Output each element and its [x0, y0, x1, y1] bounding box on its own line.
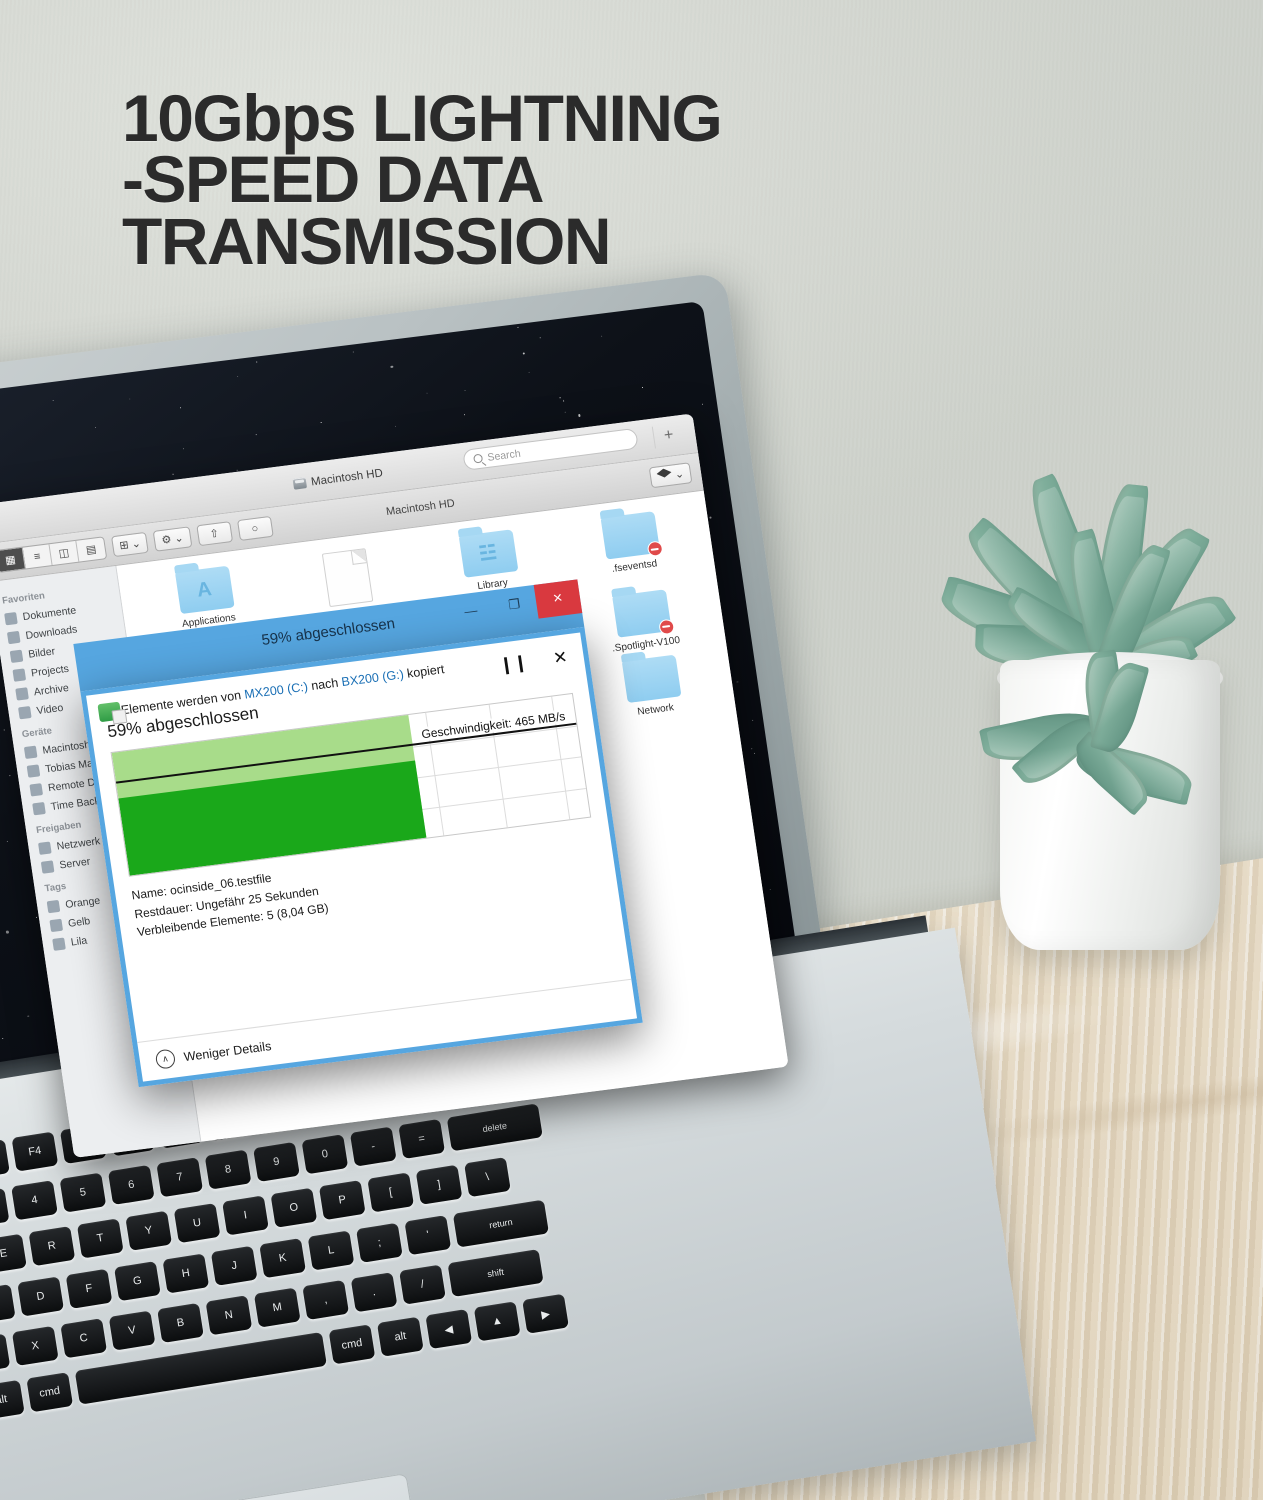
copy-suffix: kopiert	[403, 662, 446, 681]
folder-icon: A	[174, 566, 234, 614]
file-item-spotlight-v100[interactable]: .Spotlight-V100	[569, 583, 715, 659]
arrange-icon: ⊞	[119, 538, 130, 552]
arrange-button[interactable]: ⊞ ⌄	[111, 532, 149, 557]
folder-icon: ☳	[458, 529, 518, 577]
chevron-down-icon-3: ⌄	[674, 467, 685, 481]
sidebar-item-label: Bilder	[27, 645, 55, 660]
list-view-icon[interactable]: ≡	[23, 544, 53, 568]
headline-line-1: 10Gbps LIGHTNING	[122, 88, 1022, 149]
dialog-action-buttons[interactable]: ❙❙ ✕	[498, 646, 569, 674]
key-r[interactable]: R	[28, 1226, 75, 1266]
sidebar-item-label: Projects	[30, 662, 69, 679]
file-item-label: Network	[586, 696, 726, 725]
no-access-badge-icon	[646, 540, 663, 557]
file-item-network[interactable]: Network	[579, 649, 727, 736]
key-k[interactable]: K	[259, 1238, 306, 1278]
icon-view-icon[interactable]: ▦	[0, 548, 26, 572]
sidebar-item-icon	[41, 860, 55, 873]
detail-name-label: Name:	[131, 884, 168, 902]
pause-button[interactable]: ❙❙	[498, 653, 529, 673]
sidebar-item-icon	[47, 899, 61, 912]
share-icon: ⇧	[209, 527, 220, 541]
key-z[interactable]: Z	[0, 1334, 10, 1374]
dropbox-icon	[656, 468, 673, 485]
sidebar-item-label: Server	[59, 855, 91, 871]
key-g[interactable]: G	[114, 1261, 161, 1301]
close-button[interactable]: ×	[534, 579, 583, 618]
sidebar-item-icon	[10, 649, 24, 662]
maximize-button[interactable]: ❐	[490, 585, 539, 624]
finder-title-text: Macintosh HD	[310, 467, 383, 488]
action-gear-button[interactable]: ⚙ ⌄	[153, 526, 192, 551]
folder-glyph: A	[174, 566, 234, 614]
path-label: Macintosh HD	[385, 497, 455, 518]
key-y[interactable]: Y	[125, 1211, 172, 1251]
key-e[interactable]: E	[0, 1234, 27, 1274]
dropbox-button[interactable]: ⌄	[648, 462, 692, 488]
key-u[interactable]: U	[174, 1203, 221, 1243]
sidebar-item-icon	[15, 687, 29, 700]
minimize-button[interactable]: —	[446, 591, 495, 630]
sidebar-item-icon	[7, 630, 21, 643]
key-[interactable]: .	[351, 1272, 398, 1312]
copy-mid: nach	[307, 675, 343, 693]
no-access-badge-icon	[658, 618, 675, 635]
key-h[interactable]: H	[162, 1253, 209, 1293]
key-[interactable]: \	[464, 1157, 511, 1197]
tag-icon: ○	[251, 522, 259, 535]
key-c[interactable]: C	[60, 1318, 107, 1358]
key-f3[interactable]: F3	[0, 1139, 10, 1179]
key-[interactable]: ▲	[474, 1301, 521, 1341]
key-[interactable]: '	[404, 1215, 451, 1255]
key-j[interactable]: J	[211, 1246, 258, 1286]
key-[interactable]: ,	[302, 1280, 349, 1320]
folder-icon	[621, 655, 681, 703]
key-cmd[interactable]: cmd	[26, 1372, 73, 1412]
harddisk-icon	[292, 477, 307, 490]
view-mode-segmented-control[interactable]: ▦ ≡ ◫ ▤	[0, 536, 107, 573]
sidebar-item-label: Orange	[64, 894, 101, 910]
key-[interactable]: [	[367, 1172, 414, 1212]
folder-icon	[600, 511, 660, 559]
key-l[interactable]: L	[308, 1230, 355, 1270]
key-return[interactable]: return	[453, 1200, 549, 1248]
key-d[interactable]: D	[17, 1276, 64, 1316]
key-[interactable]: ◀	[425, 1309, 472, 1349]
key-x[interactable]: X	[12, 1326, 59, 1366]
sidebar-item-icon	[49, 918, 63, 931]
new-tab-button[interactable]: +	[652, 423, 685, 449]
sidebar-item-icon	[29, 783, 43, 796]
sidebar-item-label: Gelb	[67, 915, 91, 930]
copy-progress-dialog[interactable]: 11 Elemente werden von MX200 (C:) nach B…	[80, 627, 642, 1087]
key-m[interactable]: M	[254, 1288, 301, 1328]
key-b[interactable]: B	[157, 1303, 204, 1343]
sidebar-item-label: Archive	[33, 681, 69, 697]
key-f[interactable]: F	[66, 1269, 113, 1309]
key-[interactable]: ▶	[522, 1294, 569, 1334]
key-n[interactable]: N	[205, 1295, 252, 1335]
sidebar-item-icon	[4, 612, 18, 625]
key-alt[interactable]: alt	[377, 1317, 424, 1357]
screen-contents: Macintosh HD Search + ▦ ≡ ◫ ▤ ⊞ ⌄	[0, 407, 844, 1197]
less-details-label[interactable]: Weniger Details	[183, 1039, 272, 1064]
key-3[interactable]: 3	[0, 1188, 10, 1228]
search-placeholder: Search	[487, 447, 522, 463]
key-i[interactable]: I	[222, 1195, 269, 1235]
sidebar-item-label: Netzwerk	[56, 835, 101, 852]
search-icon	[473, 454, 483, 464]
key-[interactable]: ]	[416, 1165, 463, 1205]
status-text: Macintosh HD	[105, 1153, 169, 1158]
folder-glyph: ☳	[458, 529, 518, 577]
sidebar-item-label: Lila	[70, 934, 88, 948]
sidebar-item-icon	[27, 764, 41, 777]
sidebar-item-icon	[38, 841, 52, 854]
copy-icon	[97, 702, 121, 723]
page-title: 10Gbps LIGHTNING -SPEED DATA TRANSMISSIO…	[122, 88, 1022, 272]
cancel-button[interactable]: ✕	[552, 648, 569, 667]
finder-window-title: Macintosh HD	[292, 467, 383, 490]
chevron-up-icon: ∧	[155, 1048, 177, 1069]
key-[interactable]: ;	[356, 1223, 403, 1263]
key-4[interactable]: 4	[11, 1180, 58, 1220]
gear-icon: ⚙	[161, 533, 173, 547]
key-t[interactable]: T	[77, 1218, 124, 1258]
coverflow-view-icon[interactable]: ▤	[76, 537, 106, 561]
folder-icon	[612, 589, 672, 637]
file-item-label: .fseventsd	[565, 552, 705, 581]
chevron-down-icon: ⌄	[131, 537, 142, 551]
sidebar-item-icon	[32, 801, 46, 814]
key-o[interactable]: O	[270, 1188, 317, 1228]
file-item-fseventsd[interactable]: .fseventsd	[558, 506, 706, 593]
sidebar-item-icon	[12, 668, 26, 681]
key-p[interactable]: P	[319, 1180, 366, 1220]
headline-line-3: TRANSMISSION	[122, 211, 1022, 272]
column-view-icon[interactable]: ◫	[49, 541, 79, 565]
key-cmd[interactable]: cmd	[329, 1324, 376, 1364]
key-alt[interactable]: alt	[0, 1380, 25, 1420]
document-icon	[321, 548, 373, 607]
key-s[interactable]: S	[0, 1284, 16, 1324]
key-f4[interactable]: F4	[11, 1132, 58, 1172]
sidebar-item-icon	[24, 745, 38, 758]
sidebar-item-icon	[18, 705, 32, 718]
key-[interactable]: /	[399, 1265, 446, 1305]
key-v[interactable]: V	[109, 1311, 156, 1351]
headline-line-2: -SPEED DATA	[122, 149, 1022, 210]
sidebar-item-icon	[52, 937, 66, 950]
chevron-down-icon-2: ⌄	[173, 531, 184, 545]
share-button[interactable]: ⇧	[196, 521, 233, 546]
key-shift[interactable]: shift	[447, 1249, 543, 1297]
sidebar-item-label: Video	[36, 701, 64, 716]
tag-button[interactable]: ○	[237, 516, 274, 541]
